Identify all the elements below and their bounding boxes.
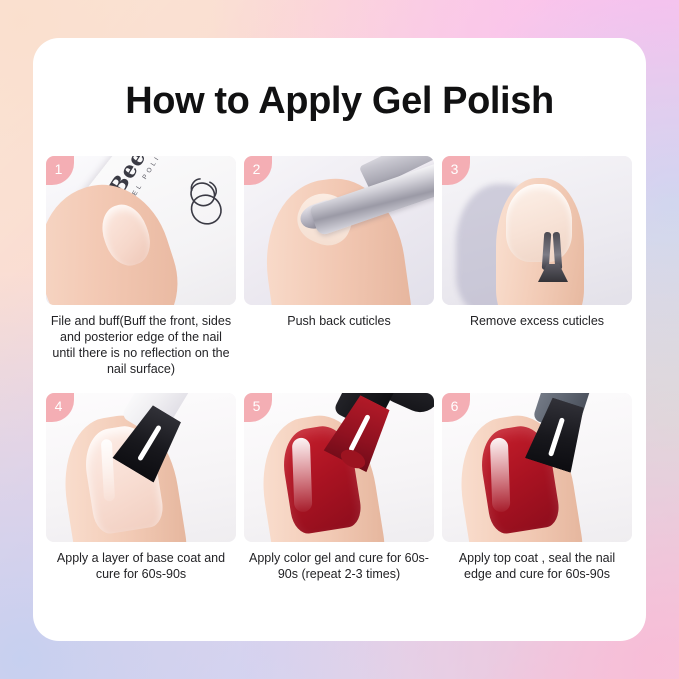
step-3-image: 3 xyxy=(442,156,632,305)
page-title: How to Apply Gel Polish xyxy=(33,38,646,120)
step-1-image: Beetles GEL POLISH ® xyxy=(46,156,236,305)
step-4-image: 4 xyxy=(46,393,236,542)
step-card-3: 3 Remove excess cuticles xyxy=(442,156,632,377)
gel-polish-infographic: How to Apply Gel Polish Beetles GEL POLI… xyxy=(0,0,679,679)
step-5-image: 5 xyxy=(244,393,434,542)
nail-highlight xyxy=(101,439,115,501)
step-5-caption: Apply color gel and cure for 60s-90s (re… xyxy=(244,542,434,582)
step-card-2: 2 Push back cuticles xyxy=(244,156,434,377)
step-2-caption: Push back cuticles xyxy=(244,305,434,329)
step-card-4: 4 Apply a layer of base coat and cure fo… xyxy=(46,393,236,582)
natural-nail xyxy=(506,184,572,262)
step-6-image: 6 xyxy=(442,393,632,542)
step-card-6: 6 Apply top coat , seal the nail edge an… xyxy=(442,393,632,582)
steps-grid: Beetles GEL POLISH ® xyxy=(46,156,633,582)
content-panel: How to Apply Gel Polish Beetles GEL POLI… xyxy=(33,38,646,641)
step-1-caption: File and buff(Buff the front, sides and … xyxy=(46,305,236,377)
step-6-caption: Apply top coat , seal the nail edge and … xyxy=(442,542,632,582)
step-2-image: 2 xyxy=(244,156,434,305)
step-4-caption: Apply a layer of base coat and cure for … xyxy=(46,542,236,582)
step-card-1: Beetles GEL POLISH ® xyxy=(46,156,236,377)
step-card-5: 5 Apply color gel and cure for 60s-90s (… xyxy=(244,393,434,582)
step-3-caption: Remove excess cuticles xyxy=(442,305,632,329)
nail-highlight xyxy=(292,438,313,513)
nail-highlight xyxy=(490,438,511,513)
